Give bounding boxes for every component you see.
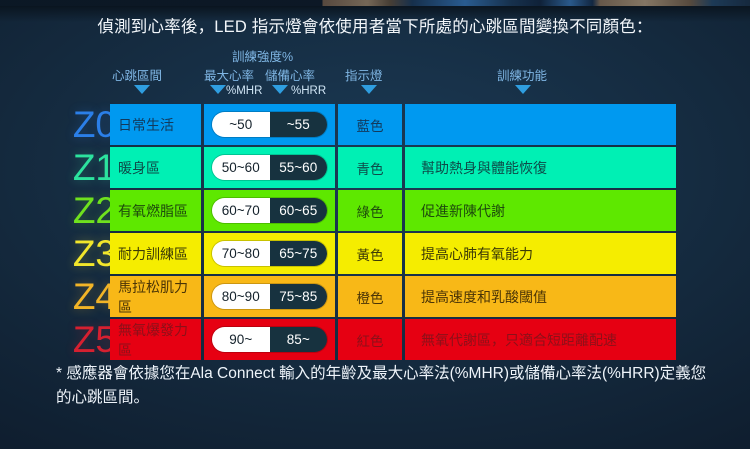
cell-training-function-z3: 提高心肺有氧能力 xyxy=(405,233,676,274)
cell-training-function-z4: 提高速度和乳酸閾值 xyxy=(405,276,676,317)
pill-hrr-value: 65~75 xyxy=(270,241,328,266)
cell-intensity-z4: 80~9075~85 xyxy=(204,276,335,317)
cell-led-color-z1: 青色 xyxy=(338,147,402,188)
pill-mhr-value: 70~80 xyxy=(212,241,270,266)
cell-intensity-z0: ~50~55 xyxy=(204,104,335,145)
table-row: 暖身區50~6055~60青色幫助熱身與體能恢復 xyxy=(110,147,676,188)
cell-zone-name-z3: 耐力訓練區 xyxy=(110,233,201,274)
cell-intensity-z5: 90~85~ xyxy=(204,319,335,360)
zone-id-label-z1: Z1 xyxy=(52,149,116,186)
cell-zone-name-z2: 有氧燃脂區 xyxy=(110,190,201,231)
intensity-pill: 50~6055~60 xyxy=(212,155,327,180)
pill-mhr-value: ~50 xyxy=(212,112,270,137)
zone-id-label-z4: Z4 xyxy=(52,278,116,315)
zone-id-label-z2: Z2 xyxy=(52,192,116,229)
triangle-down-icon-hrr xyxy=(272,85,288,94)
table-row: 無氧爆發力區90~85~紅色無氧代謝區，只適合短距離配速 xyxy=(110,319,676,360)
header-max-heart-rate: 最大心率 xyxy=(204,65,254,84)
cell-led-color-z5: 紅色 xyxy=(338,319,402,360)
pill-mhr-value: 80~90 xyxy=(212,284,270,309)
pill-mhr-value: 50~60 xyxy=(212,155,270,180)
intensity-pill: 60~7060~65 xyxy=(212,198,327,223)
triangle-down-icon-led xyxy=(361,85,377,94)
header-training-intensity: 訓練強度% xyxy=(232,46,293,65)
cell-led-color-z4: 橙色 xyxy=(338,276,402,317)
cell-led-color-z3: 黃色 xyxy=(338,233,402,274)
intensity-pill: 80~9075~85 xyxy=(212,284,327,309)
intensity-pill: ~50~55 xyxy=(212,112,327,137)
cell-training-function-z0 xyxy=(405,104,676,145)
pill-mhr-value: 90~ xyxy=(212,327,270,352)
header-training-function: 訓練功能 xyxy=(497,65,547,84)
pill-hrr-value: ~55 xyxy=(270,112,328,137)
page-title: 偵測到心率後，LED 指示燈會依使用者當下所處的心跳區間變換不同顏色： xyxy=(0,13,750,37)
slide-canvas: 偵測到心率後，LED 指示燈會依使用者當下所處的心跳區間變換不同顏色： 訓練強度… xyxy=(0,0,750,449)
cell-intensity-z3: 70~8065~75 xyxy=(204,233,335,274)
footnote: * 感應器會依據您在Ala Connect 輸入的年齡及最大心率法(%MHR)或… xyxy=(56,362,716,410)
cell-zone-name-z4: 馬拉松肌力區 xyxy=(110,276,201,317)
pill-hrr-value: 60~65 xyxy=(270,198,328,223)
zone-id-label-z5: Z5 xyxy=(52,321,116,358)
cell-training-function-z5: 無氧代謝區，只適合短距離配速 xyxy=(405,319,676,360)
triangle-down-icon-function xyxy=(515,85,531,94)
triangle-down-icon-zone xyxy=(134,85,150,94)
table-row: 日常生活~50~55藍色 xyxy=(110,104,676,145)
pill-hrr-value: 55~60 xyxy=(270,155,328,180)
table-row: 有氧燃脂區60~7060~65綠色促進新陳代謝 xyxy=(110,190,676,231)
cell-zone-name-z0: 日常生活 xyxy=(110,104,201,145)
table-row: 馬拉松肌力區80~9075~85橙色提高速度和乳酸閾值 xyxy=(110,276,676,317)
unit-label-mhr: %MHR xyxy=(226,85,262,97)
cell-led-color-z2: 綠色 xyxy=(338,190,402,231)
unit-label-hrr: %HRR xyxy=(291,85,326,97)
zone-id-label-z0: Z0 xyxy=(52,106,116,143)
heart-rate-zone-table: 日常生活~50~55藍色暖身區50~6055~60青色幫助熱身與體能恢復有氧燃脂… xyxy=(110,104,676,362)
table-row: 耐力訓練區70~8065~75黃色提高心肺有氧能力 xyxy=(110,233,676,274)
triangle-down-icon-mhr xyxy=(210,85,226,94)
cell-intensity-z2: 60~7060~65 xyxy=(204,190,335,231)
header-heart-rate-zone: 心跳區間 xyxy=(112,65,162,84)
cell-led-color-z0: 藍色 xyxy=(338,104,402,145)
cell-training-function-z2: 促進新陳代謝 xyxy=(405,190,676,231)
header-reserve-heart-rate: 儲備心率 xyxy=(265,65,315,84)
zone-id-label-z3: Z3 xyxy=(52,235,116,272)
cell-intensity-z1: 50~6055~60 xyxy=(204,147,335,188)
cell-zone-name-z5: 無氧爆發力區 xyxy=(110,319,201,360)
cell-zone-name-z1: 暖身區 xyxy=(110,147,201,188)
intensity-pill: 90~85~ xyxy=(212,327,327,352)
pill-mhr-value: 60~70 xyxy=(212,198,270,223)
cell-training-function-z1: 幫助熱身與體能恢復 xyxy=(405,147,676,188)
header-led-indicator: 指示燈 xyxy=(345,65,383,84)
pill-hrr-value: 85~ xyxy=(270,327,328,352)
intensity-pill: 70~8065~75 xyxy=(212,241,327,266)
pill-hrr-value: 75~85 xyxy=(270,284,328,309)
